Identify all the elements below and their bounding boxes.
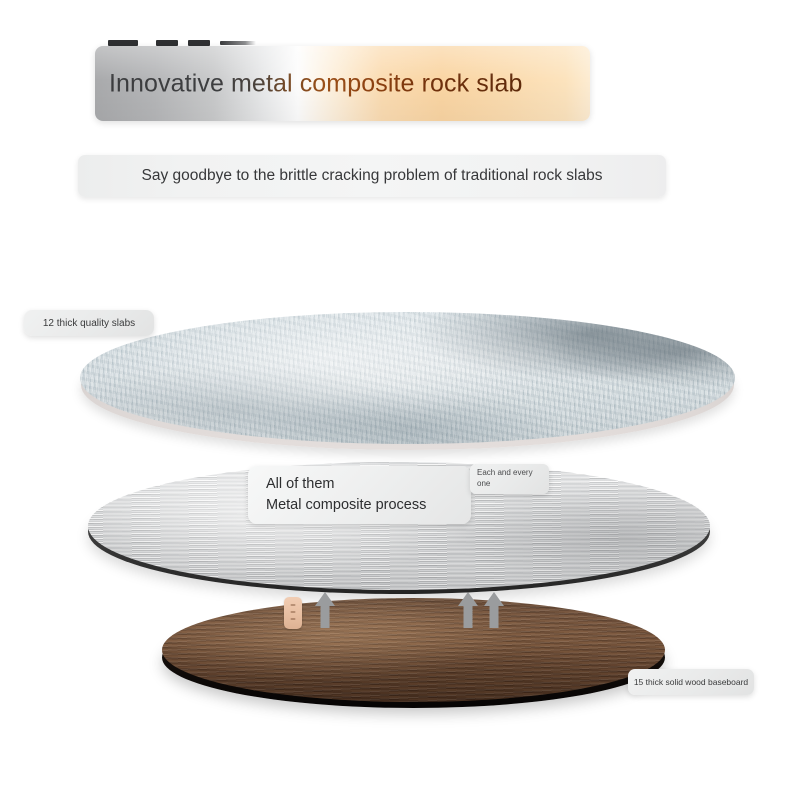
header-area: Innovative metal composite rock slab Say… [0,0,800,230]
page-title: Innovative metal composite rock slab [109,69,523,98]
tab-mark-4 [220,41,256,45]
callout-metal-line-1: All of them [266,474,426,495]
title-banner: Innovative metal composite rock slab [95,46,590,121]
up-arrow-icon-3 [484,592,504,628]
callout-each-and-every-one[interactable]: Each and every one [470,464,549,494]
subtitle-banner: Say goodbye to the brittle cracking prob… [78,155,666,197]
callout-wood-baseboard[interactable]: 15 thick solid wood baseboard [628,669,754,695]
callout-rock-slab[interactable]: 12 thick quality slabs [24,310,154,336]
callout-wood-baseboard-label: 15 thick solid wood baseboard [634,677,748,687]
callout-metal-line-2: Metal composite process [266,495,426,516]
callout-metal-composite[interactable]: All of them Metal composite process [248,466,471,524]
callout-rock-slab-label: 12 thick quality slabs [43,318,135,329]
callout-each-line-1: Each and every [477,468,533,479]
callout-each-line-2: one [477,479,533,490]
page-subtitle: Say goodbye to the brittle cracking prob… [142,167,603,185]
up-arrow-icon-2 [458,592,478,628]
up-arrow-icon-1 [315,592,335,628]
